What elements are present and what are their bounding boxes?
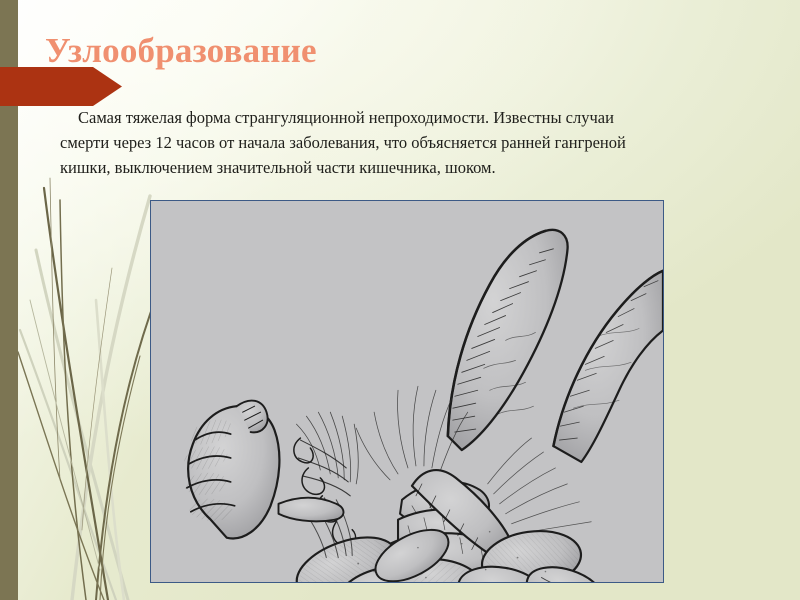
page-title: Узлообразование xyxy=(45,30,317,72)
body-line-3: кишки, выключением значительной части ки… xyxy=(60,155,760,180)
figure-frame xyxy=(150,200,664,583)
body-line-1: Самая тяжелая форма странгуляционной неп… xyxy=(60,105,760,130)
anatomical-illustration xyxy=(151,201,663,583)
slide: Узлообразование Самая тяжелая форма стра… xyxy=(0,0,800,600)
body-line-2: смерти через 12 часов от начала заболева… xyxy=(60,130,760,155)
body-paragraph: Самая тяжелая форма странгуляционной неп… xyxy=(60,105,760,180)
